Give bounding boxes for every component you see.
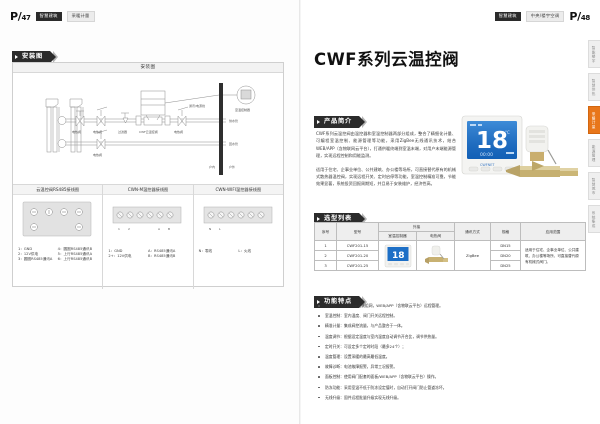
terminal-3-title: CWN-WIFI温控器接线图 bbox=[194, 185, 283, 195]
thumb-tab-5[interactable]: 系统集成 bbox=[588, 205, 600, 233]
ribbon-intro-label: 产品简介 bbox=[314, 116, 359, 128]
page-title: CWF系列云温控阀 bbox=[314, 46, 459, 70]
t1-r3: 6：上行RS485通讯B bbox=[58, 257, 98, 262]
svg-text:A: A bbox=[158, 227, 161, 231]
cell-model: CWF201-25 bbox=[337, 261, 379, 271]
terminal-col-1: 云温控阀RS485接线图 1：GND4：圆圈RS485通讯B bbox=[13, 185, 102, 289]
svg-text:电热阀: 电热阀 bbox=[93, 152, 102, 157]
svg-text:CWFNET: CWFNET bbox=[480, 163, 495, 167]
terminal-1-title: 云温控阀RS485接线图 bbox=[13, 185, 102, 195]
svg-text:°C: °C bbox=[505, 130, 510, 135]
model-selection-table: 序号 型号 外接 通讯方式 规格 应用范围 室温控制器 电热阀 1 CWF201… bbox=[314, 222, 586, 271]
right-page: 智慧建筑 中央/楼宇空调 P/48 CWF系列云温控阀 产品简介 CWF系列云温… bbox=[300, 0, 600, 424]
th-index: 序号 bbox=[315, 223, 337, 241]
svg-text:户外: 户外 bbox=[229, 164, 235, 169]
list-item: 温度管理：设置采暖的最高最低温度。 bbox=[318, 354, 586, 360]
svg-text:室温控制器: 室温控制器 bbox=[235, 107, 250, 112]
terminal-2-legend: 1：GNDA：RS485通讯A 2+：12V供电B：RS485通讯B bbox=[103, 246, 192, 262]
svg-text:电热阀: 电热阀 bbox=[174, 129, 183, 134]
terminal-2-title: CWN-M温控器接线图 bbox=[103, 185, 192, 195]
svg-text:B: B bbox=[168, 227, 170, 231]
installation-diagram-card: 安装图 bbox=[12, 62, 284, 287]
list-item: 无线升级：固件远程批量升级实现无线升级。 bbox=[318, 395, 586, 401]
thermostat-thumb-icon: 18 bbox=[383, 244, 413, 268]
page-gutter bbox=[299, 0, 301, 424]
page-spread: P/47 智慧建筑 采暖计量 安装图 安装图 bbox=[0, 0, 600, 424]
thumb-tab-2-label: 采暖计量 bbox=[592, 112, 597, 129]
right-tag-secondary: 中央/楼宇空调 bbox=[526, 11, 565, 21]
svg-text:L: L bbox=[219, 227, 221, 231]
svg-text:供水管: 供水管 bbox=[229, 118, 238, 123]
thumb-tab-0-label: 智能楼宇 bbox=[592, 46, 597, 63]
electric-valve-thumb-icon bbox=[421, 244, 451, 268]
terminal-1-legend: 1：GND4：圆圈RS485通讯B 2：12V供电5：上行RS485通讯A 3：… bbox=[13, 244, 102, 266]
svg-text:过滤器: 过滤器 bbox=[118, 129, 127, 134]
svg-text:电热阀: 电热阀 bbox=[72, 129, 81, 134]
list-item: 室温控制：室内温度、阀门开关远程控制。 bbox=[318, 313, 586, 319]
piping-diagram: 室温控制器 通讯/电源线 供水管 回水管 户内 户外 电热阀 电热阀 过滤器 C… bbox=[13, 73, 283, 184]
th-scope: 应用范围 bbox=[521, 223, 586, 241]
list-item: 无线接入：ZigBee无线组网，WEB/APP（含物联云平台）远程管理。 bbox=[318, 303, 586, 309]
list-item: 防冻功能：采用室温不低于防冻设定值时，自动打开阀门防止管道冻坏。 bbox=[318, 385, 586, 391]
cell-model: CWF201-20 bbox=[337, 251, 379, 261]
product-photo: 18 °C 00:00 CWFNET bbox=[460, 112, 588, 194]
svg-text:回水管: 回水管 bbox=[229, 141, 238, 146]
right-tag-primary: 智慧建筑 bbox=[495, 12, 521, 20]
cell-thermostat-image: 18 bbox=[379, 241, 417, 271]
th-external: 外接 bbox=[379, 223, 455, 232]
list-item: 面板控制：使用阀门配套的面板/WEB/APP（含物联云平台）操作。 bbox=[318, 374, 586, 380]
product-photo-svg: 18 °C 00:00 CWFNET bbox=[460, 112, 588, 194]
thumb-index: 智能楼宇 智慧供热 采暖计量 能源管理 智慧城市 系统集成 bbox=[588, 40, 600, 238]
svg-text:CWF云温控阀: CWF云温控阀 bbox=[139, 129, 158, 134]
th-ext-a: 室温控制器 bbox=[379, 232, 417, 241]
terminal-3-graphic: NL bbox=[196, 201, 281, 246]
cell-scope: 适用于住宅、企事业单位、公共建筑、办公楼等场所，可直接替代原有机械式阀门。 bbox=[521, 241, 586, 271]
th-ext-b: 电热阀 bbox=[417, 232, 455, 241]
cell-comm: ZigBee bbox=[455, 241, 491, 271]
svg-text:通讯/电源线: 通讯/电源线 bbox=[189, 103, 205, 108]
cell-valve-image bbox=[417, 241, 455, 271]
ribbon-intro: 产品简介 bbox=[314, 116, 367, 128]
t2-l2: 2+：12V供电 bbox=[108, 254, 148, 259]
terminal-col-3: CWN-WIFI温控器接线图 NL bbox=[193, 185, 283, 289]
terminal-2-graphic: 12 AB bbox=[105, 201, 190, 246]
left-running-head: P/47 智慧建筑 采暖计量 bbox=[10, 10, 95, 23]
thumb-tab-1[interactable]: 智慧供热 bbox=[588, 73, 600, 101]
installation-section-header: 安装图 bbox=[12, 43, 58, 63]
svg-text:户内: 户内 bbox=[209, 164, 215, 169]
cell-spec: DN20 bbox=[491, 251, 521, 261]
svg-text:18: 18 bbox=[476, 128, 508, 154]
cell-index: 2 bbox=[315, 251, 337, 261]
terminal-1-graphic bbox=[15, 199, 100, 244]
svg-text:N: N bbox=[209, 227, 211, 231]
thumb-tab-3[interactable]: 能源管理 bbox=[588, 139, 600, 167]
thumb-tab-1-label: 智慧供热 bbox=[592, 79, 597, 96]
terminal-diagrams-row: 云温控阀RS485接线图 1：GND4：圆圈RS485通讯B bbox=[13, 184, 283, 289]
thumb-tab-2-active[interactable]: 采暖计量 bbox=[588, 106, 600, 134]
left-folio: P/47 bbox=[10, 10, 31, 23]
intro-paragraph-2: 适用于住宅、企事业单位、公共建筑、办公楼等场所，可直接替代原有的机械式散热器温控… bbox=[316, 166, 456, 188]
intro-paragraph-1: CWF系列云温控阀由温控器和室温控制器两部分组成，整合了精细化计量、可编程室温控… bbox=[316, 130, 456, 160]
t3-r1: L：火线 bbox=[238, 249, 278, 254]
cell-index: 1 bbox=[315, 241, 337, 251]
thumb-tab-4[interactable]: 智慧城市 bbox=[588, 172, 600, 200]
cell-index: 3 bbox=[315, 261, 337, 271]
svg-text:18: 18 bbox=[392, 251, 405, 261]
svg-text:1: 1 bbox=[118, 227, 120, 231]
table-header-row: 序号 型号 外接 通讯方式 规格 应用范围 bbox=[315, 223, 586, 232]
feature-list: 无线接入：ZigBee无线组网，WEB/APP（含物联云平台）远程管理。 室温控… bbox=[318, 303, 586, 405]
terminal-col-2: CWN-M温控器接线图 12 AB bbox=[102, 185, 192, 289]
th-comm: 通讯方式 bbox=[455, 223, 491, 241]
t1-l3: 3：圆圈RS485通讯A bbox=[18, 257, 58, 262]
svg-text:2: 2 bbox=[128, 227, 130, 231]
th-model: 型号 bbox=[337, 223, 379, 241]
list-item: 故障诊断：电池故障报警，异常工况报警。 bbox=[318, 364, 586, 370]
thumb-tab-4-label: 智慧城市 bbox=[592, 178, 597, 195]
list-item: 温度调节：根据设定温度与室内温度自动调节开合比，调节供热量。 bbox=[318, 334, 586, 340]
terminal-3-legend: N：零线L：火线 bbox=[194, 246, 283, 257]
intro-section-header: 产品简介 bbox=[314, 108, 367, 128]
th-spec: 规格 bbox=[491, 223, 521, 241]
piping-diagram-svg: 室温控制器 通讯/电源线 供水管 回水管 户内 户外 电热阀 电热阀 过滤器 C… bbox=[13, 73, 284, 184]
right-folio: P/48 bbox=[569, 10, 590, 23]
list-item: 定时开关：可设定多个定时时段（最多24个）； bbox=[318, 344, 586, 350]
right-running-head: 智慧建筑 中央/楼宇空调 P/48 bbox=[495, 10, 590, 23]
cell-model: CWF201-15 bbox=[337, 241, 379, 251]
diagram-caption: 安装图 bbox=[13, 63, 283, 73]
left-tag-secondary: 采暖计量 bbox=[67, 11, 95, 21]
t3-l1: N：零线 bbox=[199, 249, 239, 254]
thumb-tab-0[interactable]: 智能楼宇 bbox=[588, 40, 600, 68]
cell-spec: DN15 bbox=[491, 241, 521, 251]
thumb-tab-3-label: 能源管理 bbox=[592, 145, 597, 162]
table-row: 1 CWF201-15 18 bbox=[315, 241, 586, 251]
left-tag-primary: 智慧建筑 bbox=[36, 12, 62, 20]
svg-text:00:00: 00:00 bbox=[480, 152, 493, 158]
cell-spec: DN25 bbox=[491, 261, 521, 271]
list-item: 精准计量：集成阀控流量，与产品整合于一体。 bbox=[318, 323, 586, 329]
intro-text: CWF系列云温控阀由温控器和室温控制器两部分组成，整合了精细化计量、可编程室温控… bbox=[316, 130, 456, 194]
left-page: P/47 智慧建筑 采暖计量 安装图 安装图 bbox=[0, 0, 300, 424]
svg-text:电热阀: 电热阀 bbox=[93, 129, 102, 134]
ribbon-arrow-ghost-icon bbox=[362, 116, 367, 128]
t2-r2: B：RS485通讯B bbox=[148, 254, 188, 259]
thumb-tab-5-label: 系统集成 bbox=[592, 211, 597, 228]
